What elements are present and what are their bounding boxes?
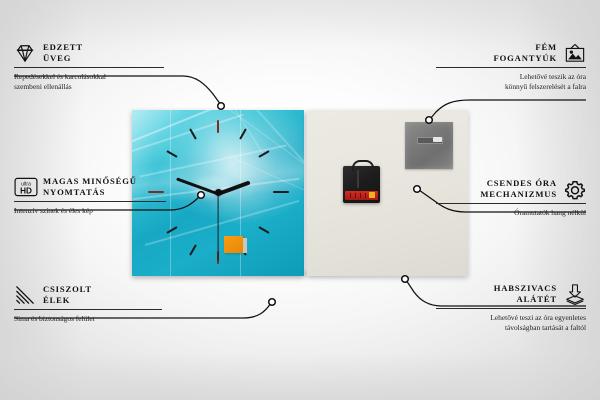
callout-description: Óramutatók hang nélkül (436, 208, 586, 218)
clock-center-hub (215, 189, 222, 196)
clock-tick-1 (239, 128, 247, 139)
clock-tick-2 (258, 150, 269, 158)
callout-header: ultra HD MAGAS MINŐSÉGŰNYOMTATÁS (14, 176, 166, 198)
callout-header: FÉMFOGANTYÚK (436, 42, 586, 64)
battery-mark (350, 193, 351, 198)
clock-tick-4 (258, 226, 269, 234)
callout-title: CSISZOLTÉLEK (43, 284, 92, 306)
callout-divider (436, 308, 586, 309)
arrow-onto-pad-icon (564, 284, 586, 304)
movement-hanging-loop (352, 160, 374, 171)
callout-divider (14, 309, 162, 310)
callout-divider (436, 67, 586, 68)
clock-tick-12 (217, 120, 219, 133)
gear-icon (564, 179, 586, 199)
clock-tick-11 (189, 128, 197, 139)
callout-header: HABSZIVACSALÁTÉT (436, 283, 586, 305)
callout-title: FÉMFOGANTYÚK (493, 42, 557, 64)
callout-description: Sima és biztonságos felület (14, 314, 162, 324)
clock-tick-7 (189, 244, 197, 255)
ultra-hd-icon: ultra HD (14, 177, 36, 197)
callout-metal-handles: FÉMFOGANTYÚK Lehetővé teszik az óra könn… (436, 42, 586, 91)
callout-title: EDZETTÜVEG (43, 42, 83, 64)
battery-mark (355, 193, 356, 198)
callout-title: HABSZIVACSALÁTÉT (494, 283, 557, 305)
callout-header: CSENDES ÓRAMECHANIZMUS (436, 178, 586, 200)
callout-quiet-mechanism: CSENDES ÓRAMECHANIZMUS Óramutatók hang n… (436, 178, 586, 218)
callout-divider (14, 201, 166, 202)
foam-spacer-pad (224, 236, 243, 253)
callout-title: MAGAS MINŐSÉGŰNYOMTATÁS (43, 176, 137, 198)
callout-description: Repedésekkel és karcolásokkal szembeni e… (14, 72, 164, 91)
callout-tempered-glass: EDZETTÜVEG Repedésekkel és karcolásokkal… (14, 42, 164, 91)
clock-second-hand (217, 193, 218, 261)
hanger-slot-highlight (433, 137, 442, 142)
battery-mark (365, 193, 366, 198)
callout-header: CSISZOLTÉLEK (14, 284, 162, 306)
battery-plus-terminal (369, 192, 375, 198)
callout-description: Intenzív színek és éles kép (14, 206, 166, 216)
picture-hanger-icon (564, 43, 586, 63)
callout-header: EDZETTÜVEG (14, 42, 164, 64)
svg-text:HD: HD (20, 186, 32, 195)
clock-tick-8 (166, 226, 177, 234)
callout-description: Lehetővé teszi az óra egyenletes távolsá… (436, 313, 586, 332)
callout-divider (436, 203, 586, 204)
callout-polished-edges: CSISZOLTÉLEK Sima és biztonságos felület (14, 284, 162, 324)
battery (345, 191, 378, 200)
bevel-edge-icon (14, 285, 36, 305)
diamond-icon (14, 43, 36, 63)
callout-hd-print: ultra HD MAGAS MINŐSÉGŰNYOMTATÁS Intenzí… (14, 176, 166, 216)
callout-foam-pad: HABSZIVACSALÁTÉT Lehetővé teszi az óra e… (436, 283, 586, 332)
callout-divider (14, 67, 164, 68)
movement-seam (357, 170, 359, 188)
callout-title: CSENDES ÓRAMECHANIZMUS (480, 178, 557, 200)
battery-mark (360, 193, 361, 198)
clock-movement (343, 166, 380, 203)
product-image (132, 110, 468, 276)
clock-tick-10 (166, 150, 177, 158)
clock-tick-3 (273, 191, 289, 193)
foam-pad-side (243, 238, 247, 253)
callout-description: Lehetővé teszik az óra könnyű felszerelé… (436, 72, 586, 91)
metal-hanger-plate (405, 122, 453, 169)
